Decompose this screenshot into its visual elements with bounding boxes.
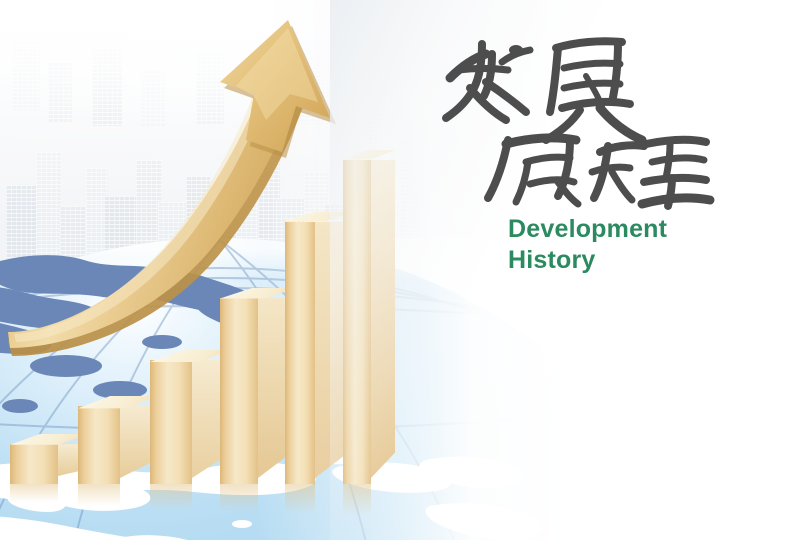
page-title-english: Development History: [508, 214, 667, 276]
bar-1-reflection: [10, 484, 58, 502]
title-english-line-1: Development: [508, 214, 667, 245]
bar-3-reflection: [150, 484, 192, 510]
bar-6: [343, 150, 395, 484]
bar-1: [10, 434, 88, 484]
page-title-chinese: [430, 26, 720, 216]
bar-5-front: [285, 222, 315, 484]
bar-2-reflection: [78, 484, 120, 506]
bar-2-front: [78, 406, 120, 484]
bar-4-front: [220, 298, 258, 484]
bar-6-side: [371, 160, 395, 478]
bar-5-reflection: [285, 484, 315, 514]
bar-4-reflection: [220, 484, 258, 512]
bar-1-front: [10, 444, 58, 484]
bar-6-reflection: [343, 484, 371, 516]
bar-3-front: [150, 360, 192, 484]
bar-6-front: [343, 160, 371, 484]
banner-canvas: Development History: [0, 0, 800, 540]
bar-2: [78, 396, 158, 484]
title-english-line-2: History: [508, 245, 667, 276]
